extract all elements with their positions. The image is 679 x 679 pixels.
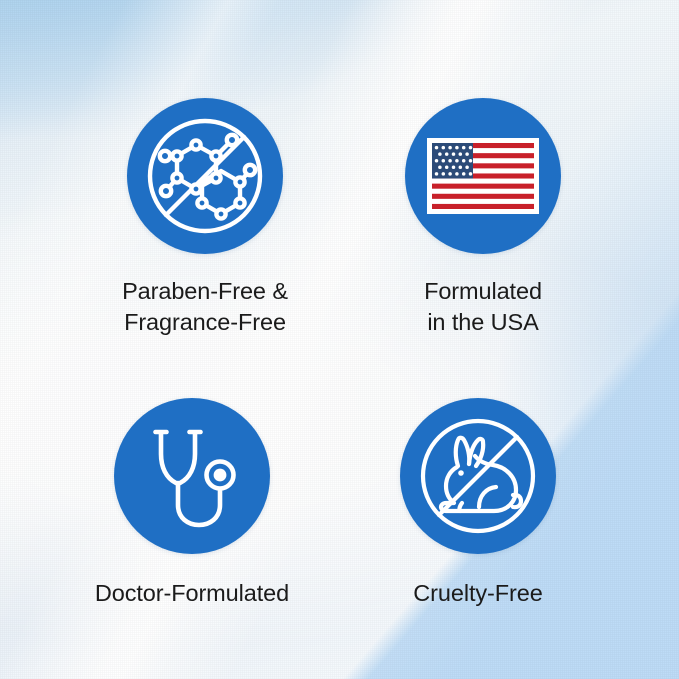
badge-label: Formulated in the USA (424, 276, 542, 338)
badge-cruelty-free: Cruelty-Free (333, 398, 623, 609)
badge-formulated-in-usa: Formulated in the USA (338, 98, 628, 338)
badge-label: Paraben-Free & Fragrance-Free (122, 276, 288, 338)
benefit-badge-grid: Paraben-Free & Fragrance-Free (0, 0, 679, 679)
badge-disc (127, 98, 283, 254)
badge-disc (400, 398, 556, 554)
badge-label: Cruelty-Free (413, 578, 542, 609)
stethoscope-icon (136, 420, 248, 532)
product-benefits-graphic: Paraben-Free & Fragrance-Free (0, 0, 679, 679)
no-molecule-icon (140, 111, 270, 241)
badge-paraben-fragrance-free: Paraben-Free & Fragrance-Free (60, 98, 350, 338)
badge-label: Doctor-Formulated (95, 578, 289, 609)
badge-disc (114, 398, 270, 554)
badge-doctor-formulated: Doctor-Formulated (47, 398, 337, 609)
badge-disc (405, 98, 561, 254)
no-rabbit-icon (413, 411, 543, 541)
usa-flag-icon (427, 138, 539, 214)
